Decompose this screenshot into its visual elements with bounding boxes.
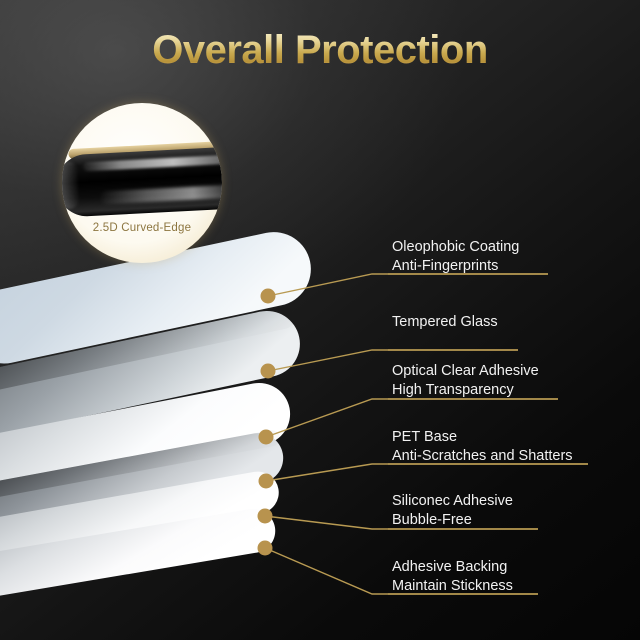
callout-label-siliconec-adhesive: Siliconec AdhesiveBubble-Free bbox=[392, 492, 513, 530]
anchor-dot-adhesive-backing[interactable] bbox=[258, 541, 273, 556]
anchor-dot-tempered-glass[interactable] bbox=[261, 364, 276, 379]
curved-edge-inset: 2.5D Curved-Edge bbox=[62, 103, 222, 263]
anchor-dot-oleophobic-coating[interactable] bbox=[261, 289, 276, 304]
inset-caption: 2.5D Curved-Edge bbox=[62, 222, 222, 234]
callout-line: Anti-Fingerprints bbox=[392, 257, 519, 276]
callout-label-optical-clear-adhesive: Optical Clear AdhesiveHigh Transparency bbox=[392, 362, 539, 400]
callout-line: Siliconec Adhesive bbox=[392, 492, 513, 511]
anchor-dot-siliconec-adhesive[interactable] bbox=[258, 509, 273, 524]
callout-label-tempered-glass: Tempered Glass bbox=[392, 313, 498, 332]
callout-label-pet-base: PET BaseAnti-Scratches and Shatters bbox=[392, 428, 573, 466]
callout-label-oleophobic-coating: Oleophobic CoatingAnti-Fingerprints bbox=[392, 238, 519, 276]
leader-line-oleophobic-coating bbox=[268, 274, 548, 296]
anchor-dot-pet-base[interactable] bbox=[259, 474, 274, 489]
callout-line: Anti-Scratches and Shatters bbox=[392, 447, 573, 466]
callout-line: High Transparency bbox=[392, 381, 539, 400]
callout-line: Adhesive Backing bbox=[392, 558, 513, 577]
leader-line-pet-base bbox=[266, 464, 588, 481]
callout-label-adhesive-backing: Adhesive BackingMaintain Stickness bbox=[392, 558, 513, 596]
product-infographic: Overall Protection bbox=[0, 0, 640, 640]
layer-stack-diagram bbox=[0, 0, 640, 640]
edge-curve-rim bbox=[62, 161, 79, 210]
callout-line: PET Base bbox=[392, 428, 573, 447]
phone-edge-illustration bbox=[62, 140, 222, 222]
callout-line: Oleophobic Coating bbox=[392, 238, 519, 257]
callout-line: Optical Clear Adhesive bbox=[392, 362, 539, 381]
callout-line: Bubble-Free bbox=[392, 511, 513, 530]
callout-line: Tempered Glass bbox=[392, 313, 498, 332]
callout-line: Maintain Stickness bbox=[392, 577, 513, 596]
anchor-dot-optical-clear-adhesive[interactable] bbox=[259, 430, 274, 445]
